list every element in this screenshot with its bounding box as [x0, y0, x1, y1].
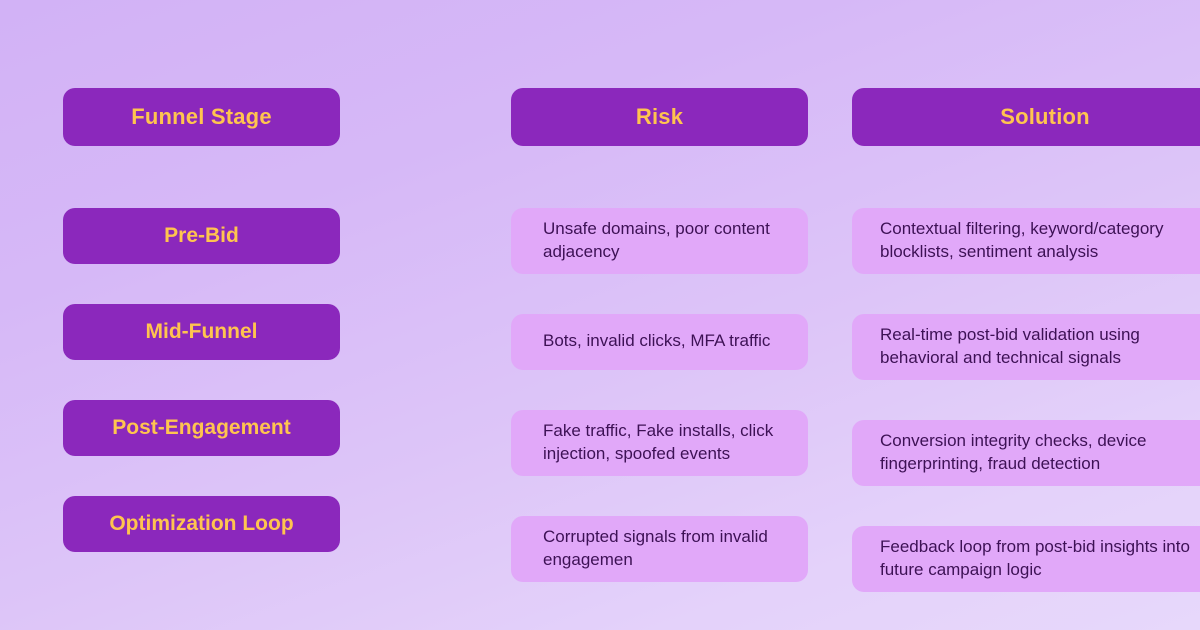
row-gap-solution-3: [852, 486, 1200, 526]
row-gap-risk-3: [511, 476, 808, 516]
risk-cell-optimization-loop: Corrupted signals from invalid engagemen: [511, 516, 808, 582]
column-risk: Risk Unsafe domains, poor content adjace…: [511, 88, 808, 592]
solution-cell-post-engagement: Conversion integrity checks, device fing…: [852, 420, 1200, 486]
comparison-table-graphic: Funnel Stage Pre-Bid Mid-Funnel Post-Eng…: [0, 0, 1200, 630]
stage-label: Optimization Loop: [109, 512, 293, 536]
solution-text: Feedback loop from post-bid insights int…: [880, 536, 1200, 582]
row-gap-risk-1: [511, 274, 808, 314]
stage-label: Post-Engagement: [112, 416, 291, 440]
funnel-risk-solution-table: Funnel Stage Pre-Bid Mid-Funnel Post-Eng…: [63, 88, 1139, 592]
stage-cell-optimization-loop: Optimization Loop: [63, 496, 340, 552]
solution-cell-optimization-loop: Feedback loop from post-bid insights int…: [852, 526, 1200, 592]
column-funnel-stage: Funnel Stage Pre-Bid Mid-Funnel Post-Eng…: [63, 88, 340, 592]
solution-cell-mid-funnel: Real-time post-bid validation using beha…: [852, 314, 1200, 380]
stage-label: Pre-Bid: [164, 224, 239, 248]
header-solution-label: Solution: [1000, 104, 1090, 130]
risk-text: Fake traffic, Fake installs, click injec…: [543, 420, 792, 466]
risk-cell-mid-funnel: Bots, invalid clicks, MFA traffic: [511, 314, 808, 370]
row-gap-solution-2: [852, 380, 1200, 420]
risk-text: Unsafe domains, poor content adjacency: [543, 218, 792, 264]
header-risk: Risk: [511, 88, 808, 146]
row-gap-stage-3: [63, 456, 340, 496]
stage-label: Mid-Funnel: [146, 320, 258, 344]
stage-cell-pre-bid: Pre-Bid: [63, 208, 340, 264]
row-gap-stage-1: [63, 264, 340, 304]
stage-cell-post-engagement: Post-Engagement: [63, 400, 340, 456]
risk-text: Bots, invalid clicks, MFA traffic: [543, 330, 770, 353]
risk-cell-post-engagement: Fake traffic, Fake installs, click injec…: [511, 410, 808, 476]
row-gap-stage-2: [63, 360, 340, 400]
header-funnel-stage: Funnel Stage: [63, 88, 340, 146]
risk-text: Corrupted signals from invalid engagemen: [543, 526, 792, 572]
header-funnel-stage-label: Funnel Stage: [131, 104, 272, 130]
header-gap-stage: [63, 146, 340, 208]
risk-cell-pre-bid: Unsafe domains, poor content adjacency: [511, 208, 808, 274]
header-solution: Solution: [852, 88, 1200, 146]
header-gap-solution: [852, 146, 1200, 208]
row-gap-solution-1: [852, 274, 1200, 314]
row-gap-risk-2: [511, 370, 808, 410]
header-gap-risk: [511, 146, 808, 208]
solution-cell-pre-bid: Contextual filtering, keyword/category b…: [852, 208, 1200, 274]
header-risk-label: Risk: [636, 104, 683, 130]
solution-text: Conversion integrity checks, device fing…: [880, 430, 1200, 476]
stage-cell-mid-funnel: Mid-Funnel: [63, 304, 340, 360]
solution-text: Real-time post-bid validation using beha…: [880, 324, 1200, 370]
solution-text: Contextual filtering, keyword/category b…: [880, 218, 1200, 264]
column-solution: Solution Contextual filtering, keyword/c…: [852, 88, 1200, 592]
